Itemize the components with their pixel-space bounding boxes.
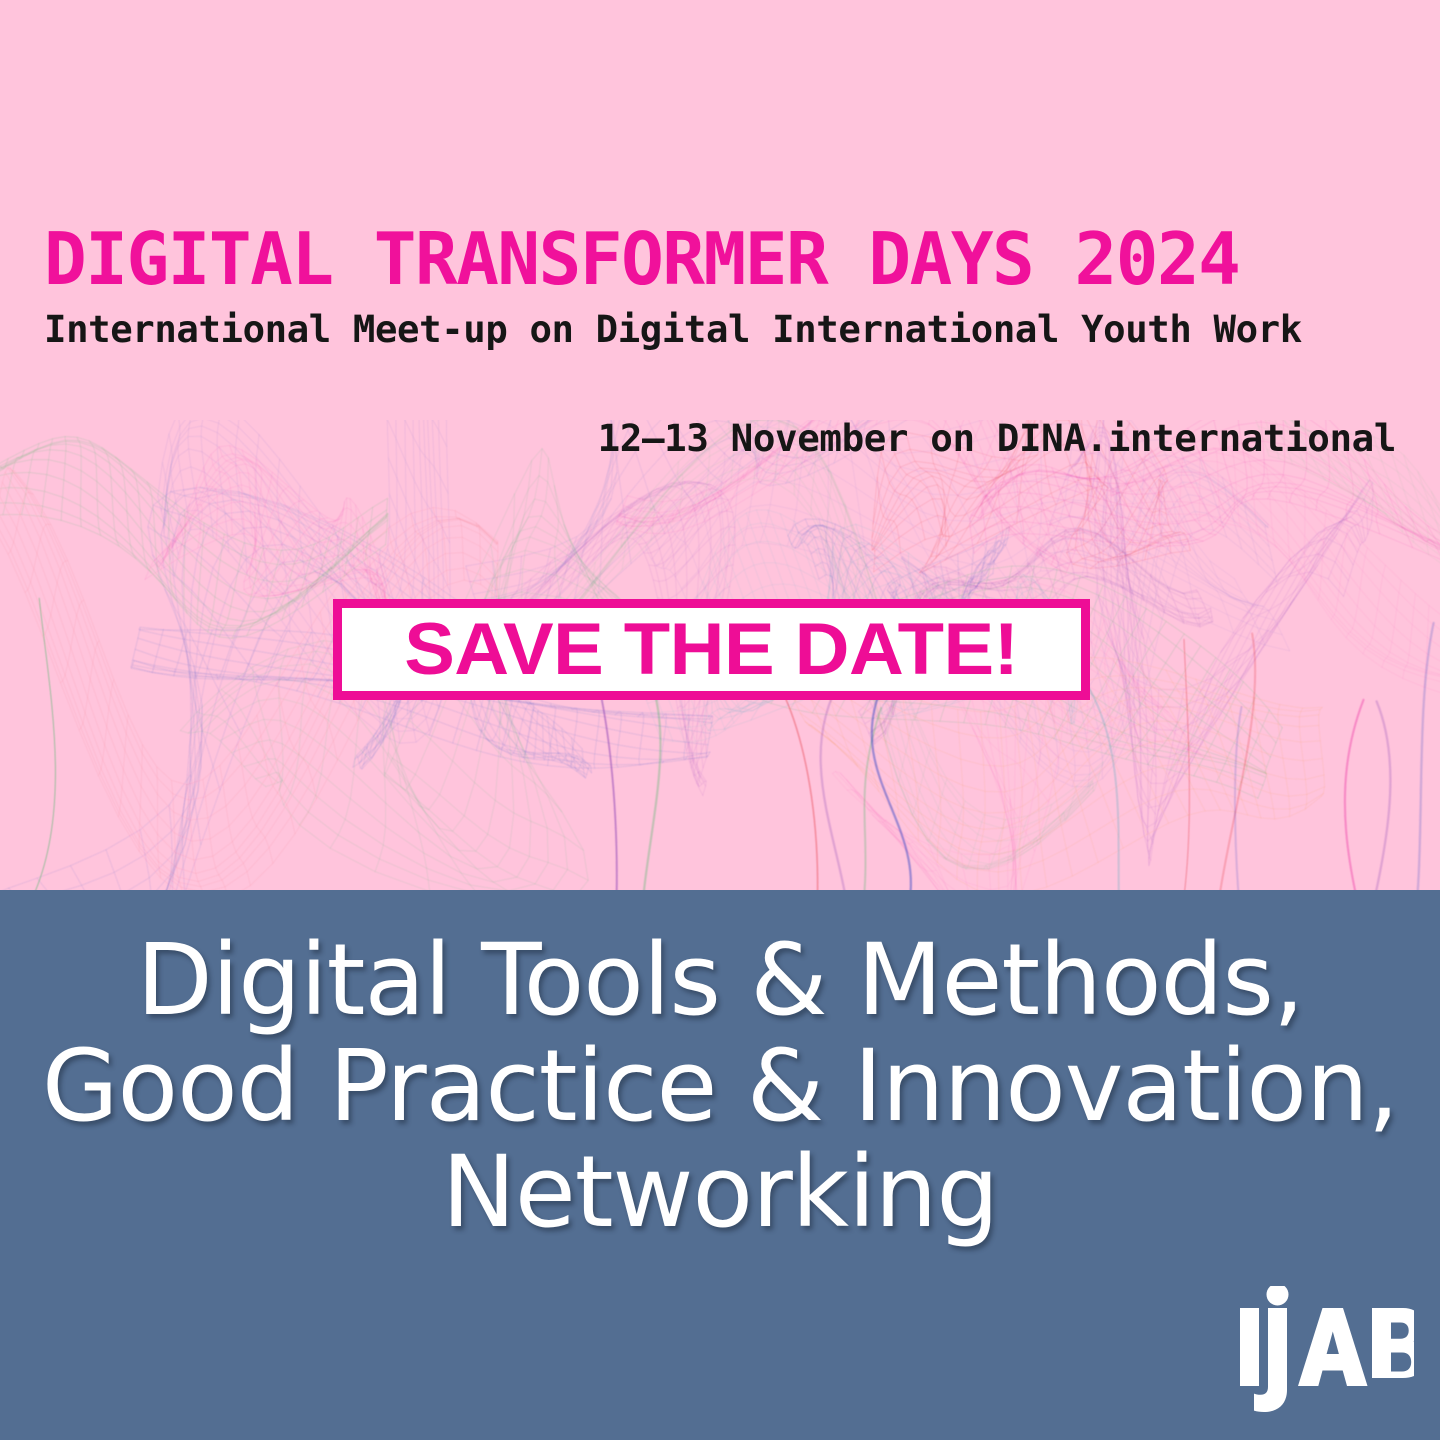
- save-the-date-label: SAVE THE DATE!: [404, 613, 1018, 686]
- top-pink-panel: DIGITAL TRANSFORMER DAYS 2024 Internatio…: [0, 0, 1440, 890]
- event-subtitle: International Meet-up on Digital Interna…: [44, 309, 1397, 350]
- ijab-logo: [1238, 1286, 1414, 1414]
- topic-line-3: Networking: [0, 1140, 1440, 1246]
- page-title: DIGITAL TRANSFORMER DAYS 2024: [44, 222, 1384, 297]
- headline-block: DIGITAL TRANSFORMER DAYS 2024 Internatio…: [44, 222, 1404, 350]
- topic-line-1: Digital Tools & Methods,: [0, 928, 1440, 1034]
- event-date-line: 12–13 November on DINA.international: [598, 418, 1396, 459]
- save-the-date-banner: SAVE THE DATE!: [333, 599, 1090, 700]
- topic-line-2: Good Practice & Innovation,: [0, 1034, 1440, 1140]
- topics-block: Digital Tools & Methods, Good Practice &…: [0, 928, 1440, 1246]
- poster-canvas: DIGITAL TRANSFORMER DAYS 2024 Internatio…: [0, 0, 1440, 1440]
- bottom-blue-panel: Digital Tools & Methods, Good Practice &…: [0, 890, 1440, 1440]
